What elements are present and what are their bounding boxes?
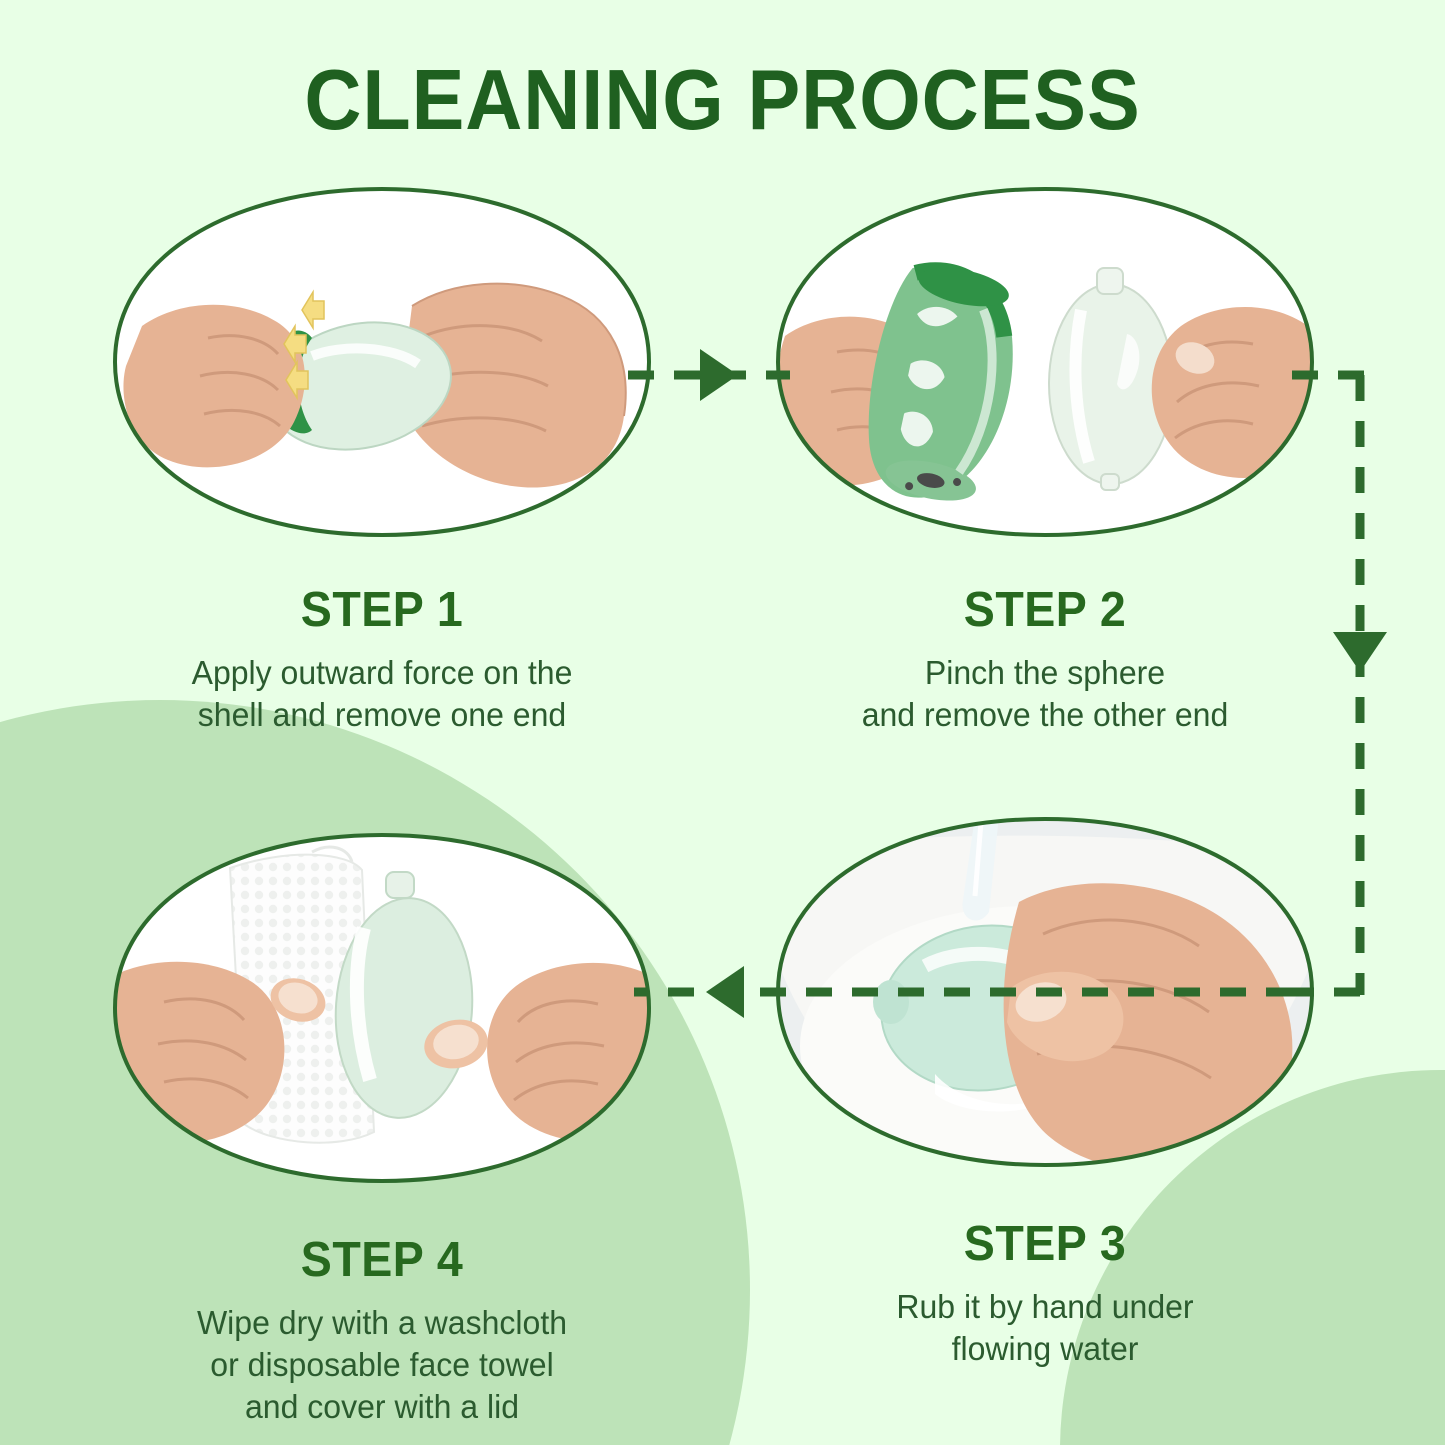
step-3-caption: Rub it by hand under flowing water bbox=[783, 1286, 1307, 1370]
step-4-label: STEP 4 bbox=[126, 1232, 639, 1288]
arrow-step1-to-step2 bbox=[628, 349, 790, 401]
infographic-canvas: CLEANING PROCESS bbox=[0, 0, 1445, 1445]
step-card-4: STEP 4 Wipe dry with a washcloth or disp… bbox=[112, 832, 652, 1429]
step-3-photo bbox=[775, 816, 1315, 1168]
page-title: CLEANING PROCESS bbox=[51, 52, 1395, 150]
step-4-photo bbox=[112, 832, 652, 1184]
step-1-caption: Apply outward force on the shell and rem… bbox=[120, 652, 644, 736]
step-3-label: STEP 3 bbox=[789, 1216, 1302, 1272]
step-card-3: STEP 3 Rub it by hand under flowing wate… bbox=[775, 816, 1315, 1370]
step-card-1: STEP 1 Apply outward force on the shell … bbox=[112, 186, 652, 736]
step-1-label: STEP 1 bbox=[126, 582, 639, 638]
step-2-label: STEP 2 bbox=[789, 582, 1302, 638]
step-4-caption: Wipe dry with a washcloth or disposable … bbox=[120, 1302, 644, 1429]
step-2-photo bbox=[775, 186, 1315, 538]
step-card-2: STEP 2 Pinch the sphere and remove the o… bbox=[775, 186, 1315, 736]
step-2-caption: Pinch the sphere and remove the other en… bbox=[783, 652, 1307, 736]
step-1-photo bbox=[112, 186, 652, 538]
